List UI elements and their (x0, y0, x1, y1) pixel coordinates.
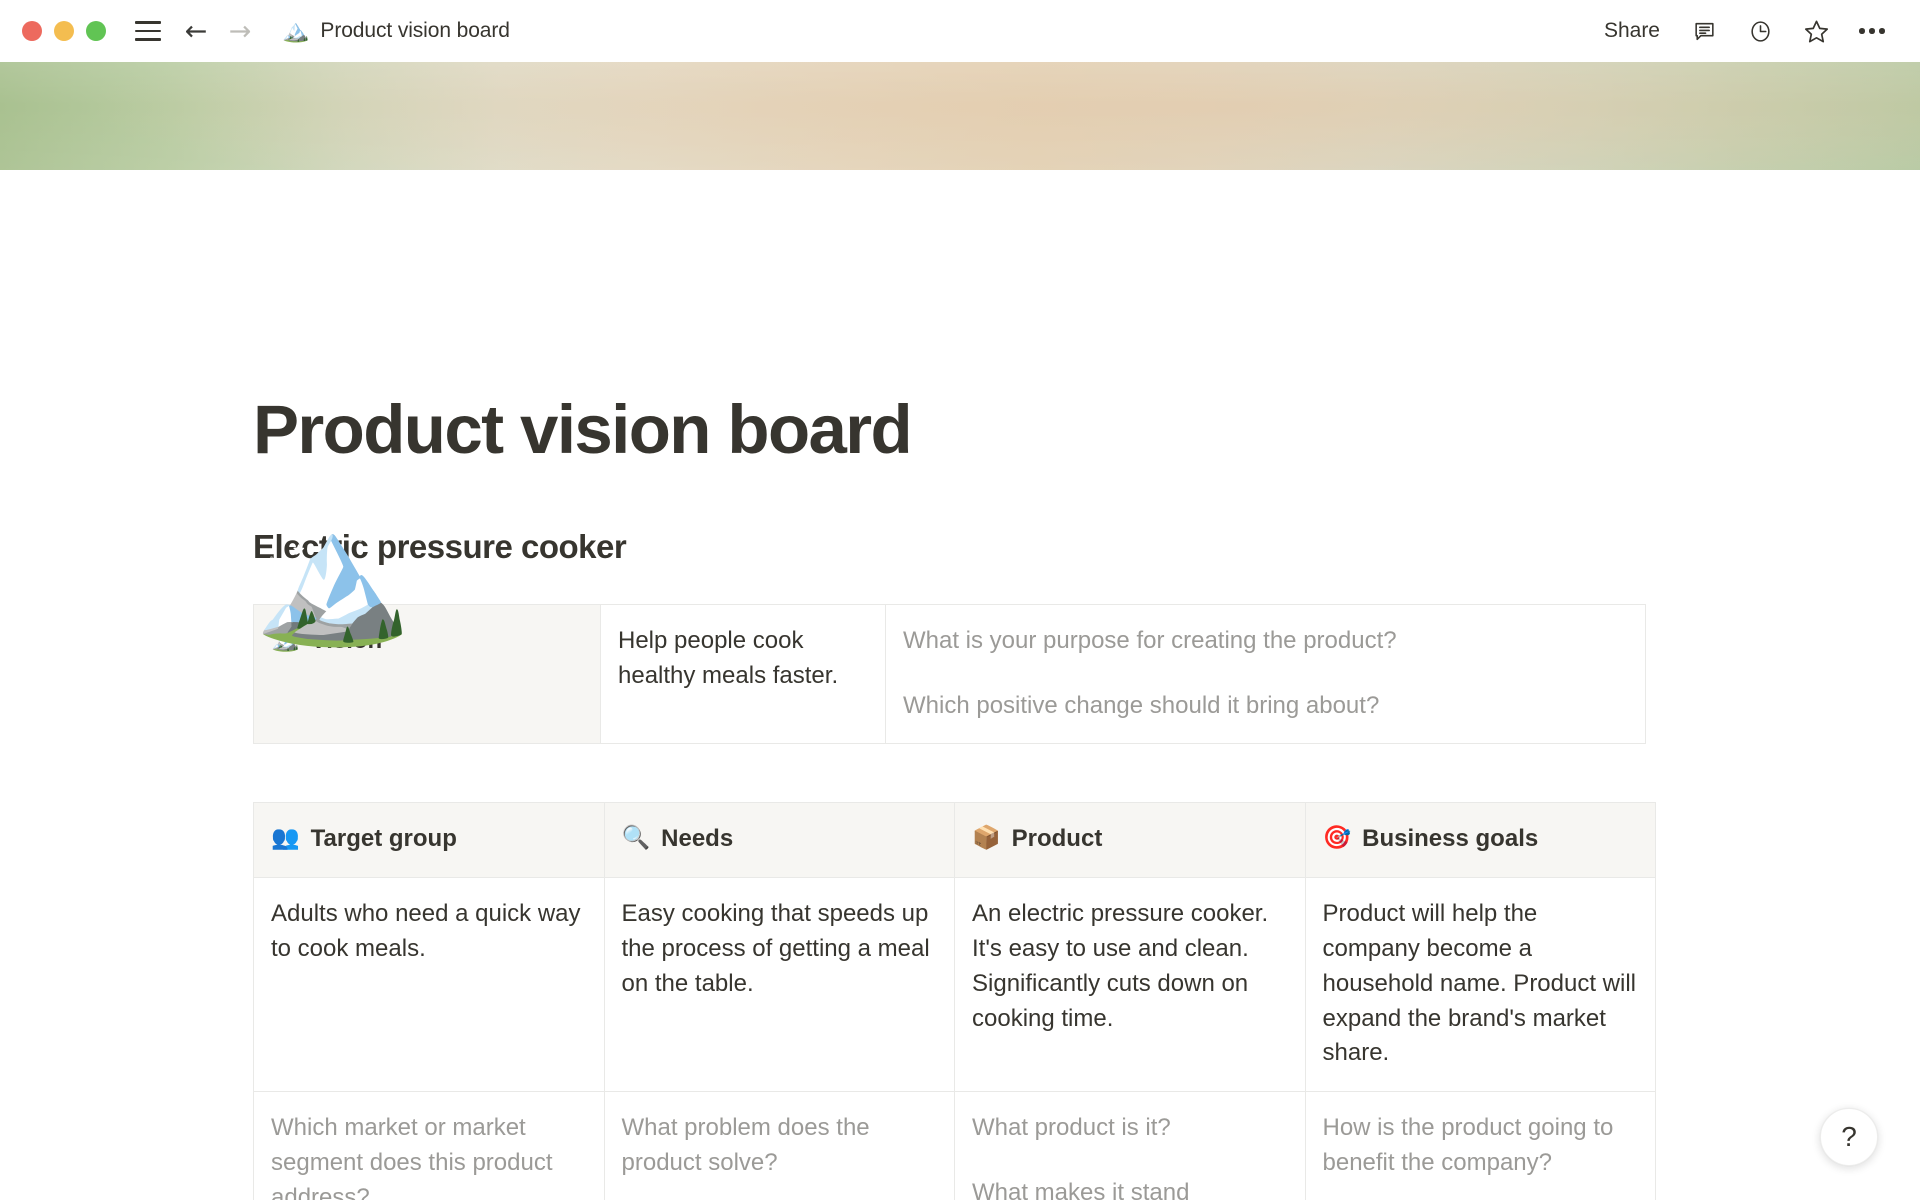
people-icon: 👥 (271, 822, 300, 855)
header-label: Needs (661, 822, 733, 857)
placeholder-line: What problem does the product solve? (622, 1111, 938, 1181)
placeholder-line: What product is it? (972, 1111, 1288, 1146)
cell-product-value[interactable]: An electric pressure cooker. It's easy t… (955, 878, 1306, 1092)
table-header-row: 👥 Target group 🔍 Needs 📦 Produc (254, 803, 1656, 878)
clock-history-icon (1748, 19, 1773, 44)
more-options-button[interactable] (1852, 11, 1892, 51)
breadcrumb-title: Product vision board (320, 19, 509, 43)
cell-target-group-value[interactable]: Adults who need a quick way to cook meal… (254, 878, 605, 1092)
header-cell-product[interactable]: 📦 Product (955, 803, 1306, 878)
placeholder-line: How is the product going to benefit the … (1323, 1111, 1639, 1181)
page-subheading[interactable]: Electric pressure cooker (253, 528, 1920, 566)
mountain-icon: 🏔️ (253, 514, 403, 642)
vision-value-cell[interactable]: Help people cook healthy meals faster. (601, 604, 886, 744)
mountain-icon: 🏔️ (282, 20, 309, 42)
back-button[interactable]: ← (176, 11, 216, 51)
minimize-window-button[interactable] (54, 21, 74, 41)
target-icon: 🎯 (1323, 822, 1352, 855)
page-history-button[interactable] (1740, 11, 1780, 51)
hamburger-menu-icon (135, 21, 161, 41)
header-label: Product (1012, 822, 1103, 857)
vision-board-grid-table: 👥 Target group 🔍 Needs 📦 Produc (253, 802, 1656, 1200)
maximize-window-button[interactable] (86, 21, 106, 41)
cell-needs-value[interactable]: Easy cooking that speeds up the process … (604, 878, 955, 1092)
favorite-button[interactable] (1796, 11, 1836, 51)
page-cover-image[interactable] (0, 62, 1920, 170)
page-title[interactable]: Product vision board (253, 392, 1920, 468)
vision-table: 🏔️ Vision Help people cook healthy meals… (253, 604, 1646, 745)
cell-target-group-placeholder[interactable]: Which market or market segment does this… (254, 1092, 605, 1200)
window-traffic-lights (22, 21, 106, 41)
header-cell-business-goals[interactable]: 🎯 Business goals (1305, 803, 1656, 878)
arrow-right-icon: → (229, 18, 252, 45)
comment-icon (1692, 19, 1717, 44)
vision-placeholder-cell[interactable]: What is your purpose for creating the pr… (886, 604, 1646, 744)
close-window-button[interactable] (22, 21, 42, 41)
help-button[interactable]: ? (1820, 1108, 1878, 1166)
breadcrumb[interactable]: 🏔️ Product vision board (282, 19, 510, 43)
cell-business-goals-value[interactable]: Product will help the company become a h… (1305, 878, 1656, 1092)
navigation-arrows: ← → (176, 11, 260, 51)
question-mark-icon: ? (1841, 1121, 1857, 1153)
more-options-icon (1859, 28, 1885, 34)
sidebar-toggle-button[interactable] (128, 11, 168, 51)
search-icon: 🔍 (622, 822, 651, 855)
header-label: Target group (311, 822, 457, 857)
package-icon: 📦 (972, 822, 1001, 855)
window-toolbar: ← → 🏔️ Product vision board Share (0, 0, 1920, 62)
cell-business-goals-placeholder[interactable]: How is the product going to benefit the … (1305, 1092, 1656, 1200)
forward-button[interactable]: → (220, 11, 260, 51)
table-row: Adults who need a quick way to cook meal… (254, 878, 1656, 1092)
page-icon[interactable]: 🏔️ (253, 514, 403, 642)
table-row: 🏔️ Vision Help people cook healthy meals… (254, 604, 1646, 744)
share-button[interactable]: Share (1596, 15, 1668, 47)
header-label: Business goals (1362, 822, 1538, 857)
comments-button[interactable] (1684, 11, 1724, 51)
header-cell-needs[interactable]: 🔍 Needs (604, 803, 955, 878)
placeholder-line: What is your purpose for creating the pr… (903, 624, 1628, 659)
star-icon (1803, 18, 1830, 45)
toolbar-actions: Share (1596, 11, 1892, 51)
header-cell-target-group[interactable]: 👥 Target group (254, 803, 605, 878)
page-body: 🏔️ Product vision board Electric pressur… (0, 392, 1920, 1200)
placeholder-line: Which positive change should it bring ab… (903, 689, 1628, 724)
placeholder-line: Which market or market segment does this… (271, 1111, 587, 1200)
cell-product-placeholder[interactable]: What product is it? What makes it stand (955, 1092, 1306, 1200)
table-row: Which market or market segment does this… (254, 1092, 1656, 1200)
arrow-left-icon: ← (185, 18, 208, 45)
cell-needs-placeholder[interactable]: What problem does the product solve? (604, 1092, 955, 1200)
placeholder-line: What makes it stand (972, 1176, 1288, 1200)
